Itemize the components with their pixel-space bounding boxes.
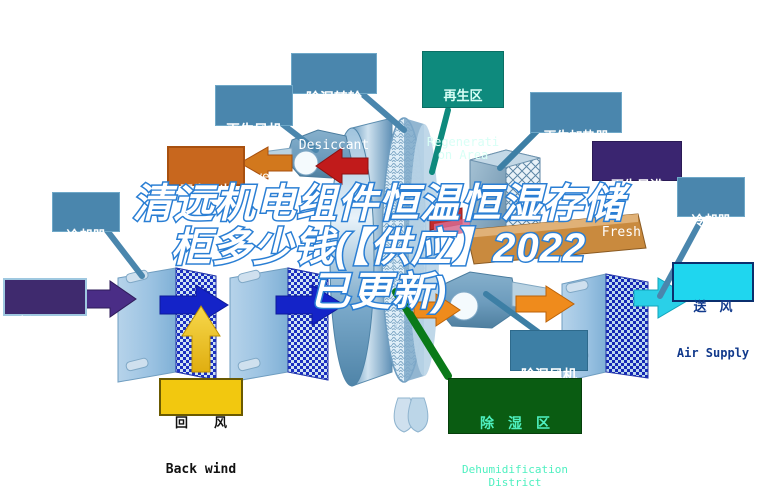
label-regeneration-air-inlet[interactable]: 再生风进 Fresh Air — [592, 141, 682, 181]
svg-text:xf: xf — [392, 319, 405, 334]
label-desiccant-wheel-cn: 除湿转轮 — [292, 91, 376, 106]
cooler-unit-right — [230, 268, 328, 382]
label-air-supply[interactable]: 送 风 Air Supply — [672, 262, 754, 302]
label-regeneration-area-en: Regenerati on Area — [423, 136, 503, 162]
label-regeneration-air-inlet-en: Fresh Air — [593, 226, 681, 240]
label-exhaust[interactable]: 再生风出 Exhaust — [167, 146, 245, 186]
label-back-wind-en: Back wind — [161, 463, 241, 477]
label-fresh-air-en: Fresh Air — [5, 363, 85, 377]
label-regeneration-blower-cn: 再生风机 — [216, 123, 292, 138]
label-dehumidification-blower[interactable]: 除湿风机 Blower — [510, 330, 588, 371]
label-regeneration-heater[interactable]: 再生加热器 heater — [530, 92, 622, 133]
wheel-belt — [394, 398, 428, 432]
label-cooler-right-cn: 冷却器 — [678, 214, 744, 228]
label-air-supply-cn: 送 风 — [674, 300, 752, 314]
label-back-wind[interactable]: 回 风 Back wind — [159, 378, 243, 416]
label-cooler-left[interactable]: 冷却器 Cooler — [52, 192, 120, 232]
label-desiccant-wheel[interactable]: 除湿转轮 Desiccant — [291, 53, 377, 94]
label-dehumidification-district-en: Dehumidification District — [449, 464, 581, 488]
diagram-canvas: xf 除湿转轮 Desiccant 再生风机 Blower 再生区 Regene… — [0, 0, 757, 488]
label-exhaust-en: Exhaust — [169, 231, 243, 245]
label-desiccant-wheel-en: Desiccant — [292, 139, 376, 153]
label-cooler-left-cn: 冷却器 — [53, 229, 119, 243]
label-regeneration-blower[interactable]: 再生风机 Blower — [215, 85, 293, 126]
label-dehumidification-district-cn: 除 湿 区 — [449, 416, 581, 431]
label-dehumidification-district[interactable]: 除 湿 区 Dehumidification District — [448, 378, 582, 434]
label-exhaust-cn: 再生风出 — [169, 184, 243, 198]
label-regeneration-air-inlet-cn: 再生风进 — [593, 179, 681, 193]
label-cooler-right[interactable]: 冷却器 Cooler — [677, 177, 745, 217]
label-regeneration-area[interactable]: 再生区 Regenerati on Area — [422, 51, 504, 108]
label-back-wind-cn: 回 风 — [161, 416, 241, 430]
label-air-supply-en: Air Supply — [674, 347, 752, 360]
label-regeneration-area-cn: 再生区 — [423, 89, 503, 103]
label-fresh-air[interactable]: 新 风 Fresh Air — [3, 278, 87, 316]
label-fresh-air-cn: 新 风 — [5, 316, 85, 330]
